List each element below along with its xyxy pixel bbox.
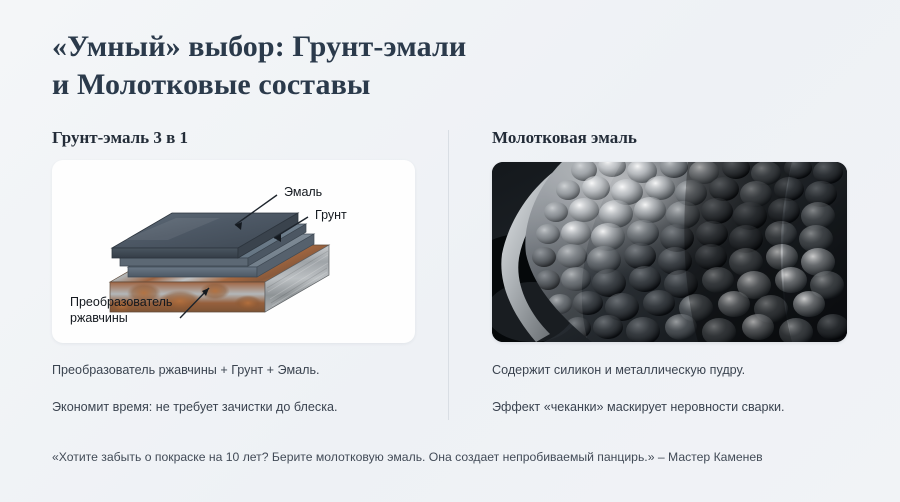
page-title-line-2: и Молотковые составы [52,66,672,104]
left-bullet-2: Экономит время: не требует зачистки до б… [52,399,432,416]
page-title-line-1: «Умный» выбор: Грунт-эмали [52,30,466,63]
layered-coating-diagram: Эмаль Грунт Преобразователь ржавчины [52,160,415,343]
primer-enamel-diagram-card: Эмаль Грунт Преобразователь ржавчины [52,160,415,343]
right-bullet-1: Содержит силикон и металлическую пудру. [492,362,882,379]
left-bullet-1: Преобразователь ржавчины + Грунт + Эмаль… [52,362,432,379]
footer-quote: «Хотите забыть о покраске на 10 лет? Бер… [52,450,882,464]
column-divider [448,130,449,420]
page-title: «Умный» выбор: Грунт-эмали и Молотковые … [52,28,672,104]
hammered-metal-texture [492,162,847,342]
hammered-surface [512,162,847,342]
callout-rust-converter-label-2: ржавчины [70,311,128,325]
right-bullet-2: Эффект «чеканки» маскирует неровности св… [492,399,882,416]
left-column-heading: Грунт-эмаль 3 в 1 [52,128,188,148]
callout-rust-converter-label-1: Преобразователь [70,295,172,309]
callout-enamel-label: Эмаль [284,185,322,199]
slide-root: «Умный» выбор: Грунт-эмали и Молотковые … [0,0,900,502]
left-column-bullets: Преобразователь ржавчины + Грунт + Эмаль… [52,362,432,416]
right-column-heading: Молотковая эмаль [492,128,637,148]
callout-primer-label: Грунт [315,208,347,222]
right-column-bullets: Содержит силикон и металлическую пудру. … [492,362,882,416]
hammered-enamel-photo-card [492,162,847,342]
